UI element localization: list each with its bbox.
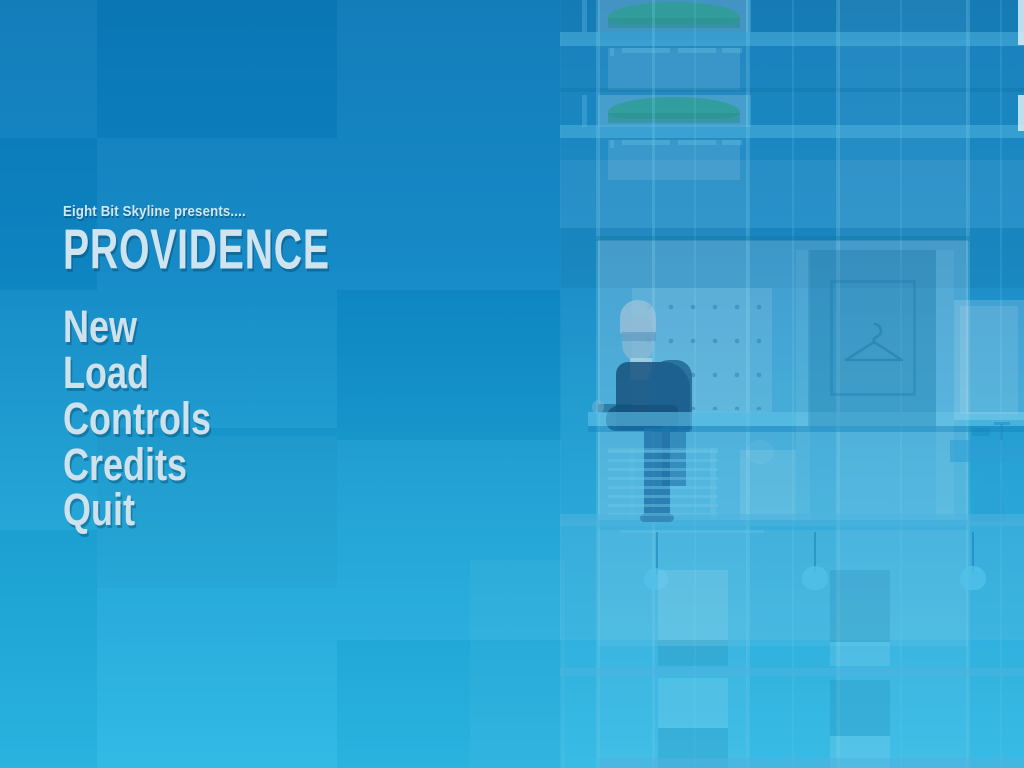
desk-lamp: [1000, 424, 1003, 440]
mullion: [582, 95, 587, 127]
window-divider: [678, 140, 716, 145]
window-divider: [622, 140, 670, 145]
floor-slab: [598, 758, 1024, 768]
desk-object: [972, 428, 990, 436]
menu-item-new[interactable]: New: [63, 304, 137, 350]
balcony-hedge-base: [608, 113, 740, 123]
sky-block: [97, 0, 337, 138]
pendant-lamp: [802, 566, 828, 590]
chair-frame: [710, 448, 716, 520]
title-and-menu-panel: Eight Bit Skyline presents.... PROVIDENC…: [63, 204, 483, 533]
window-divider: [722, 140, 742, 145]
window-pane-dark: [658, 640, 728, 666]
interior-shape-round: [746, 440, 774, 464]
mullion: [582, 0, 587, 32]
desk-top: [950, 440, 1024, 462]
desk-lamp-arm: [994, 422, 1010, 425]
interior-column: [936, 250, 954, 520]
window-divider: [722, 48, 742, 53]
sky-block: [470, 560, 565, 768]
ceiling-line: [620, 530, 764, 533]
floor-slab: [560, 668, 1024, 676]
window-divider: [678, 48, 716, 53]
menu-item-credits[interactable]: Credits: [63, 442, 187, 488]
window-divider: [610, 140, 614, 148]
sky-block: [0, 0, 97, 138]
main-menu: New Load Controls Credits Quit: [63, 304, 483, 533]
menu-item-controls[interactable]: Controls: [63, 396, 211, 442]
window-pane: [658, 570, 728, 646]
building-facade-art: [560, 0, 1024, 768]
sky-block: [0, 530, 97, 768]
floor-slab: [560, 514, 1024, 526]
window-divider: [610, 48, 614, 56]
window-pane-dark: [830, 680, 890, 736]
hanger-icon: [842, 320, 906, 366]
main-menu-screen: Eight Bit Skyline presents.... PROVIDENC…: [0, 0, 1024, 768]
window-pane: [608, 140, 740, 180]
facade-column-wash: [560, 0, 598, 768]
floor-line: [596, 236, 970, 241]
pendant-lamp: [960, 566, 986, 590]
chair-leg: [630, 448, 634, 520]
window-pane: [658, 678, 728, 728]
chair-top: [608, 448, 718, 452]
page-title: PROVIDENCE: [63, 224, 374, 278]
sky-block: [97, 636, 337, 768]
framed-picture-inner: [960, 306, 1018, 414]
person-glasses: [622, 332, 656, 341]
window-pane-dark: [830, 570, 890, 642]
edge-highlight-panel: [1018, 0, 1024, 45]
menu-item-quit[interactable]: Quit: [63, 487, 135, 533]
office-chair-stripes: [608, 450, 718, 520]
interior-column: [796, 250, 810, 520]
window-pane: [830, 642, 890, 666]
edge-highlight-panel: [1018, 95, 1024, 131]
balcony-hedge-base: [608, 18, 740, 28]
window-pane: [608, 48, 740, 90]
window-divider: [622, 48, 670, 53]
studio-presents-line: Eight Bit Skyline presents....: [63, 204, 433, 219]
menu-item-load[interactable]: Load: [63, 350, 149, 396]
